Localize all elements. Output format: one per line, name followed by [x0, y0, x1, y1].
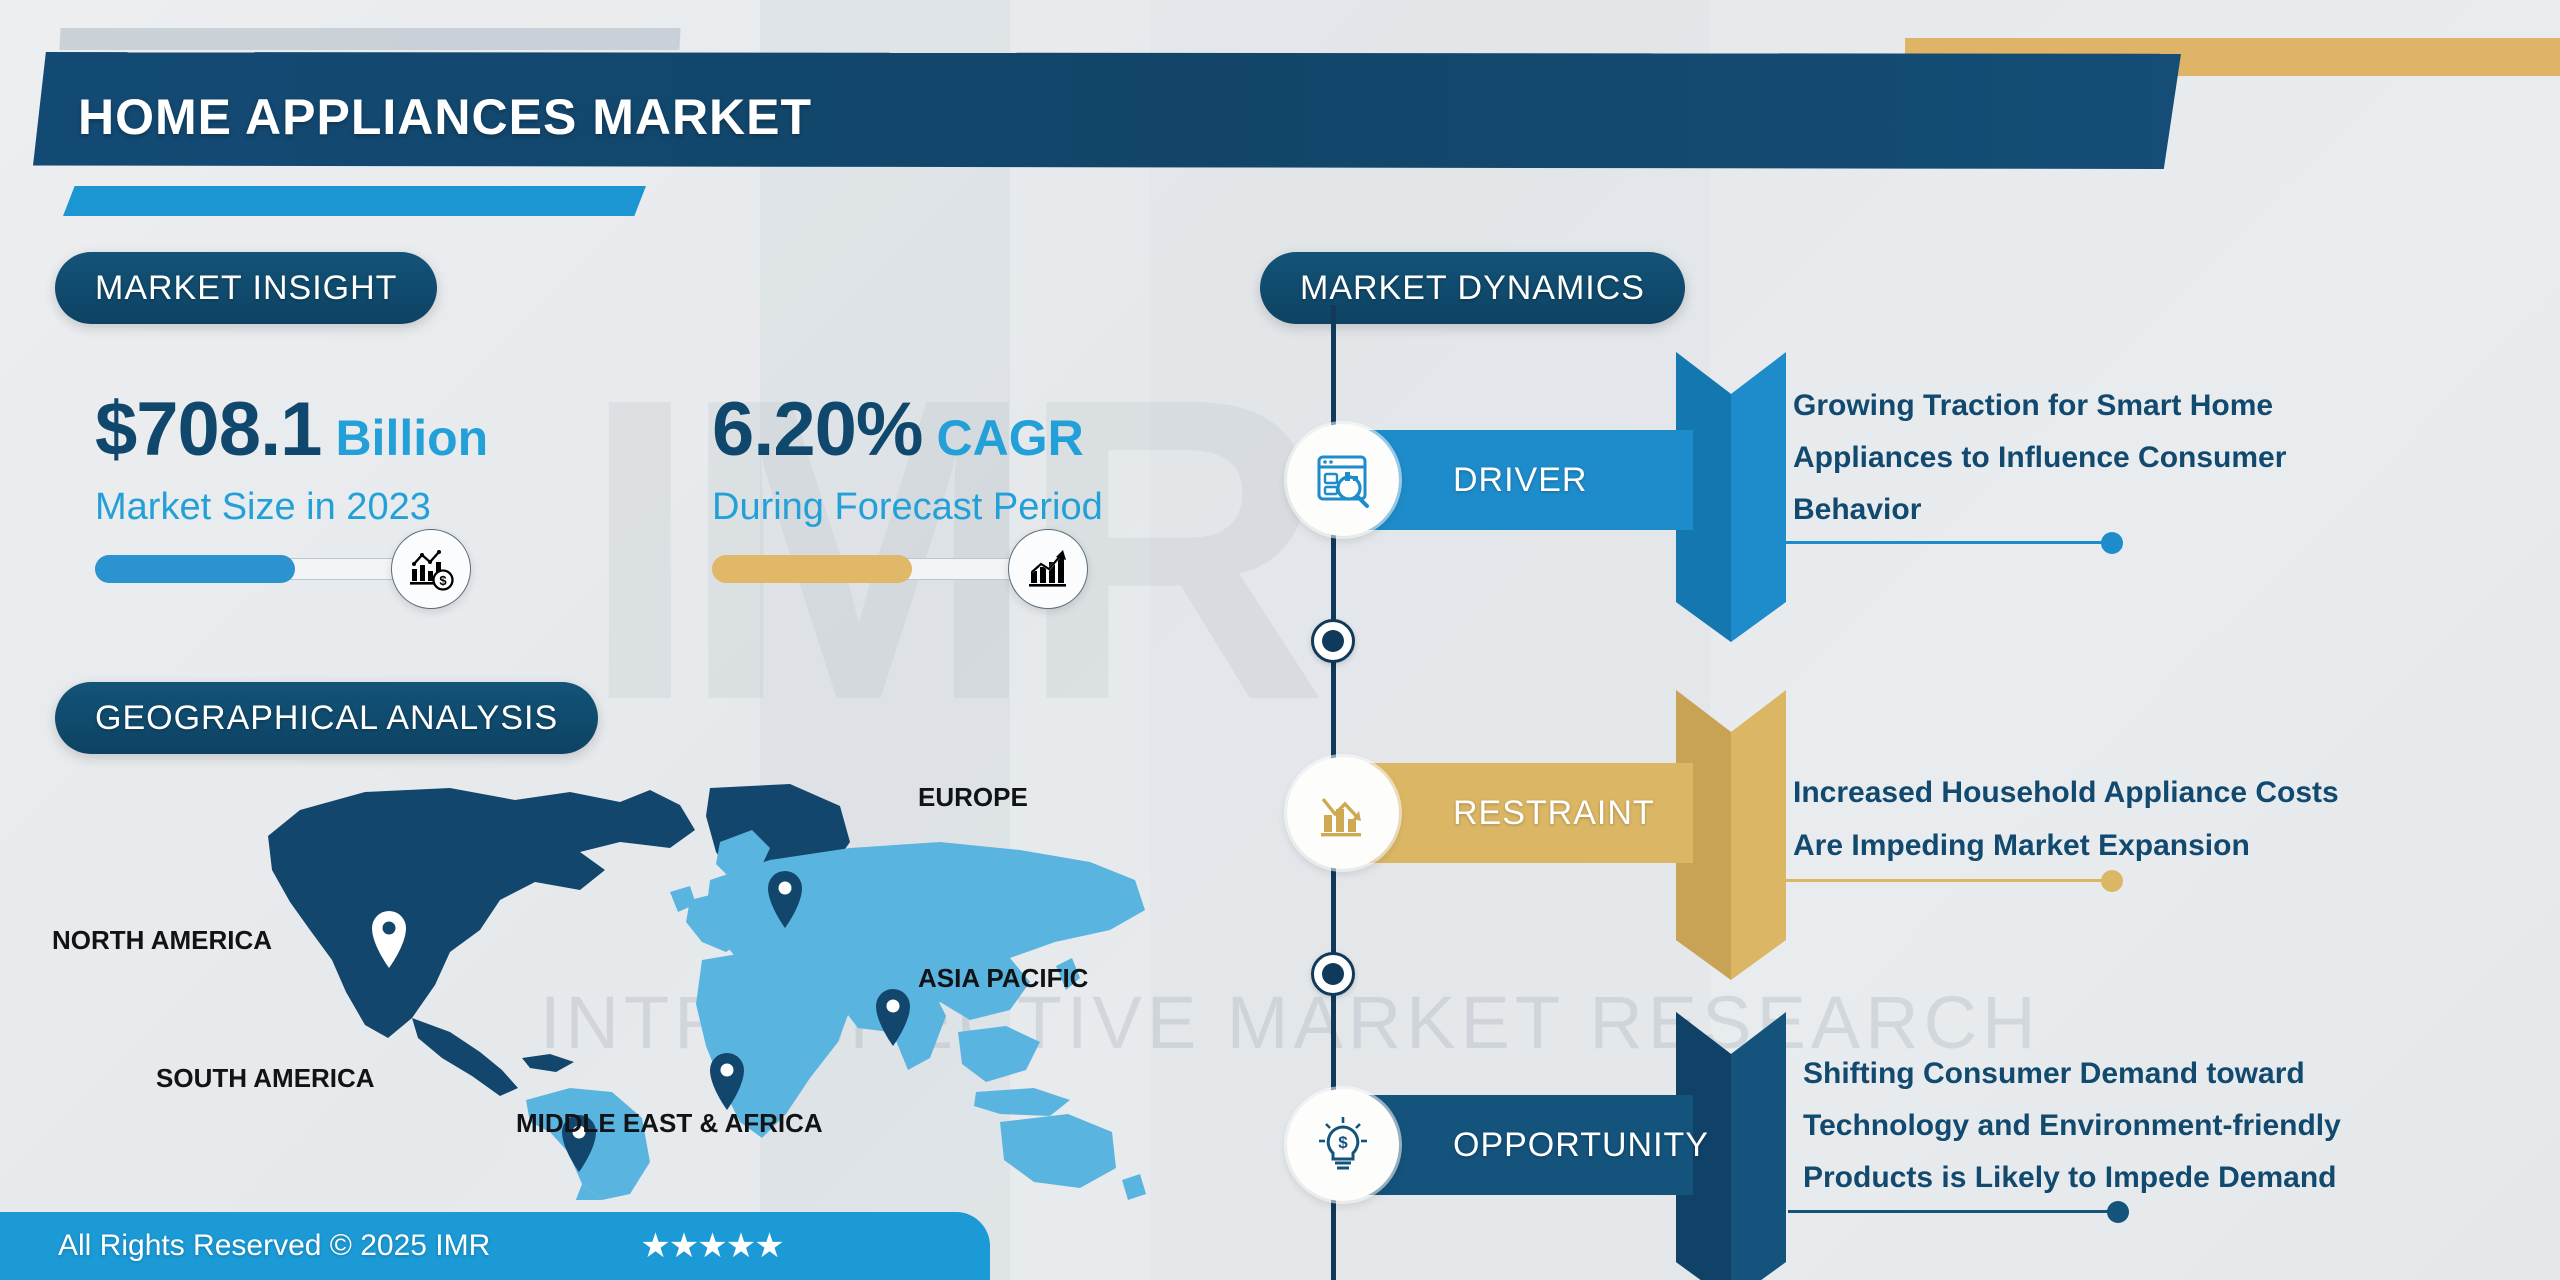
- map-label-south-america: SOUTH AMERICA: [156, 1063, 375, 1094]
- map-label-europe: EUROPE: [918, 782, 1028, 813]
- region-australia: [1000, 1114, 1116, 1188]
- stat-market-size-value: $708.1: [95, 387, 321, 472]
- region-sea: [958, 1026, 1040, 1082]
- svg-text:$: $: [1338, 1133, 1348, 1152]
- driver-label: DRIVER: [1453, 461, 1587, 500]
- opportunity-text-line3: Products is Likely to Impede Demand: [1803, 1152, 2336, 1204]
- market-insight-heading: MARKET INSIGHT: [55, 252, 437, 324]
- indonesia: [974, 1088, 1070, 1116]
- opportunity-text-line1: Shifting Consumer Demand toward: [1803, 1048, 2305, 1100]
- declining-bar-chart-icon: [1287, 757, 1399, 869]
- stat-cagr-unit: CAGR: [937, 410, 1084, 466]
- driver-band: DRIVER: [1333, 430, 1693, 530]
- restraint-rule: [1782, 879, 2112, 882]
- geographical-analysis-heading: GEOGRAPHICAL ANALYSIS: [55, 682, 598, 754]
- bar-fill: [712, 555, 912, 583]
- header-underline: [63, 186, 646, 216]
- infographic-canvas: IMR INTROSPECTIVE MARKET RESEARCH HOME A…: [0, 0, 2560, 1280]
- restraint-label: RESTRAINT: [1453, 794, 1655, 833]
- timeline-dot-1: [1311, 619, 1355, 663]
- opportunity-text-line2: Technology and Environment-friendly: [1803, 1100, 2341, 1152]
- driver-text-line1: Growing Traction for Smart Home: [1793, 380, 2273, 432]
- footer-copyright: All Rights Reserved © 2025 IMR: [58, 1229, 490, 1263]
- timeline-dot-2: [1311, 952, 1355, 996]
- region-north-america: [268, 788, 695, 1038]
- bar-fill: [95, 555, 295, 583]
- market-dynamics-heading: MARKET DYNAMICS: [1260, 252, 1685, 324]
- bar-chart-dollar-icon: $: [391, 529, 471, 609]
- lightbulb-dollar-icon: $: [1287, 1089, 1399, 1201]
- driver-rule: [1782, 541, 2112, 544]
- analytics-search-icon: [1287, 424, 1399, 536]
- driver-text-line3: Behavior: [1793, 484, 1921, 536]
- central-america: [412, 1018, 518, 1096]
- growth-arrow-chart-icon: [1008, 529, 1088, 609]
- restraint-text-line1: Increased Household Appliance Costs: [1793, 767, 2339, 819]
- opportunity-rule: [1788, 1210, 2118, 1213]
- restraint-text-line2: Are Impeding Market Expansion: [1793, 820, 2250, 872]
- new-zealand: [1122, 1174, 1146, 1200]
- stat-market-size-subtitle: Market Size in 2023: [95, 486, 488, 529]
- stat-cagr-subtitle: During Forecast Period: [712, 486, 1103, 529]
- header-shadow-strip: [59, 28, 680, 50]
- driver-text-line2: Appliances to Influence Consumer: [1793, 432, 2286, 484]
- stat-cagr: 6.20%CAGR During Forecast Period: [712, 392, 1103, 583]
- svg-text:$: $: [439, 573, 447, 588]
- rating-stars-icon: ★★★★★: [640, 1226, 782, 1266]
- opportunity-label: OPPORTUNITY: [1453, 1126, 1709, 1165]
- map-label-middle-east-africa: MIDDLE EAST & AFRICA: [516, 1108, 823, 1139]
- caribbean: [522, 1054, 574, 1072]
- stat-market-size-unit: Billion: [335, 410, 488, 466]
- stat-cagr-value: 6.20%: [712, 387, 923, 472]
- restraint-band: RESTRAINT: [1333, 763, 1693, 863]
- page-title: HOME APPLIANCES MARKET: [78, 88, 812, 146]
- footer-bar: All Rights Reserved © 2025 IMR ★★★★★: [0, 1212, 990, 1280]
- stat-cagr-bar: [712, 555, 1102, 583]
- stat-market-size-bar: $: [95, 555, 485, 583]
- opportunity-band: $ OPPORTUNITY: [1333, 1095, 1693, 1195]
- map-label-asia-pacific: ASIA PACIFIC: [918, 963, 1088, 994]
- map-label-north-america: NORTH AMERICA: [52, 925, 272, 956]
- stat-market-size: $708.1Billion Market Size in 2023 $: [95, 392, 488, 583]
